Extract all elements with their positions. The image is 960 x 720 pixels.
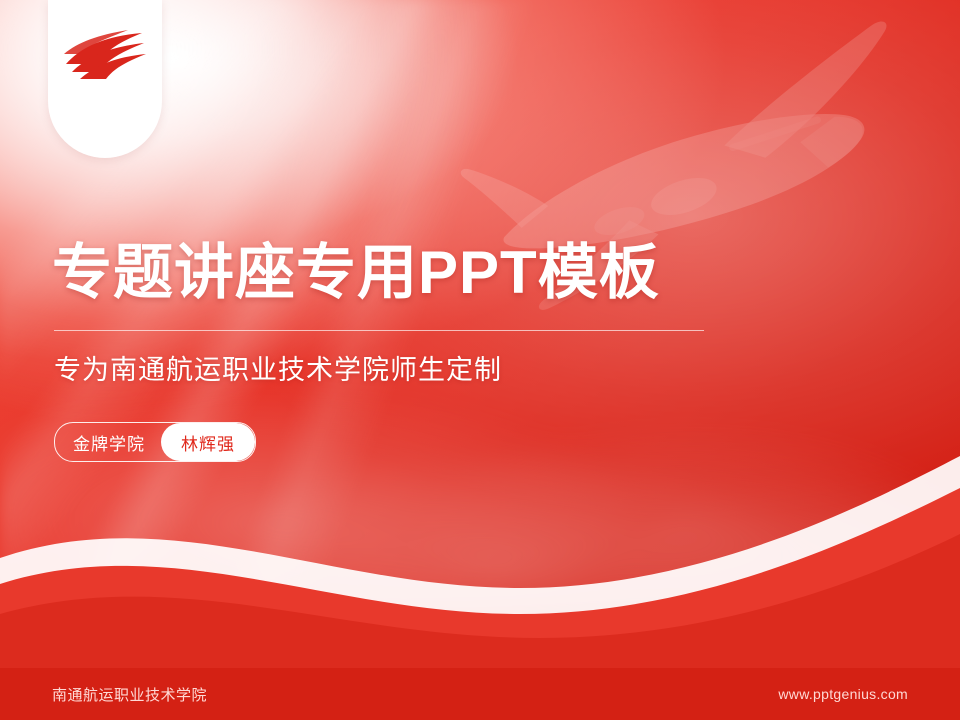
- title-divider: [54, 330, 704, 331]
- page-subtitle: 专为南通航运职业技术学院师生定制: [54, 348, 502, 387]
- wave-decoration: [0, 438, 960, 668]
- presentation-title-slide: 专题讲座专用PPT模板 专为南通航运职业技术学院师生定制 金牌学院 林辉强 南通…: [0, 0, 960, 720]
- footer-website: www.pptgenius.com: [778, 686, 908, 702]
- footer-school-name: 南通航运职业技术学院: [52, 684, 207, 705]
- page-title: 专题讲座专用PPT模板: [52, 238, 812, 307]
- school-logo-icon: [62, 30, 148, 82]
- logo-tab: [48, 0, 162, 158]
- slide-footer: 南通航运职业技术学院 www.pptgenius.com: [0, 668, 960, 720]
